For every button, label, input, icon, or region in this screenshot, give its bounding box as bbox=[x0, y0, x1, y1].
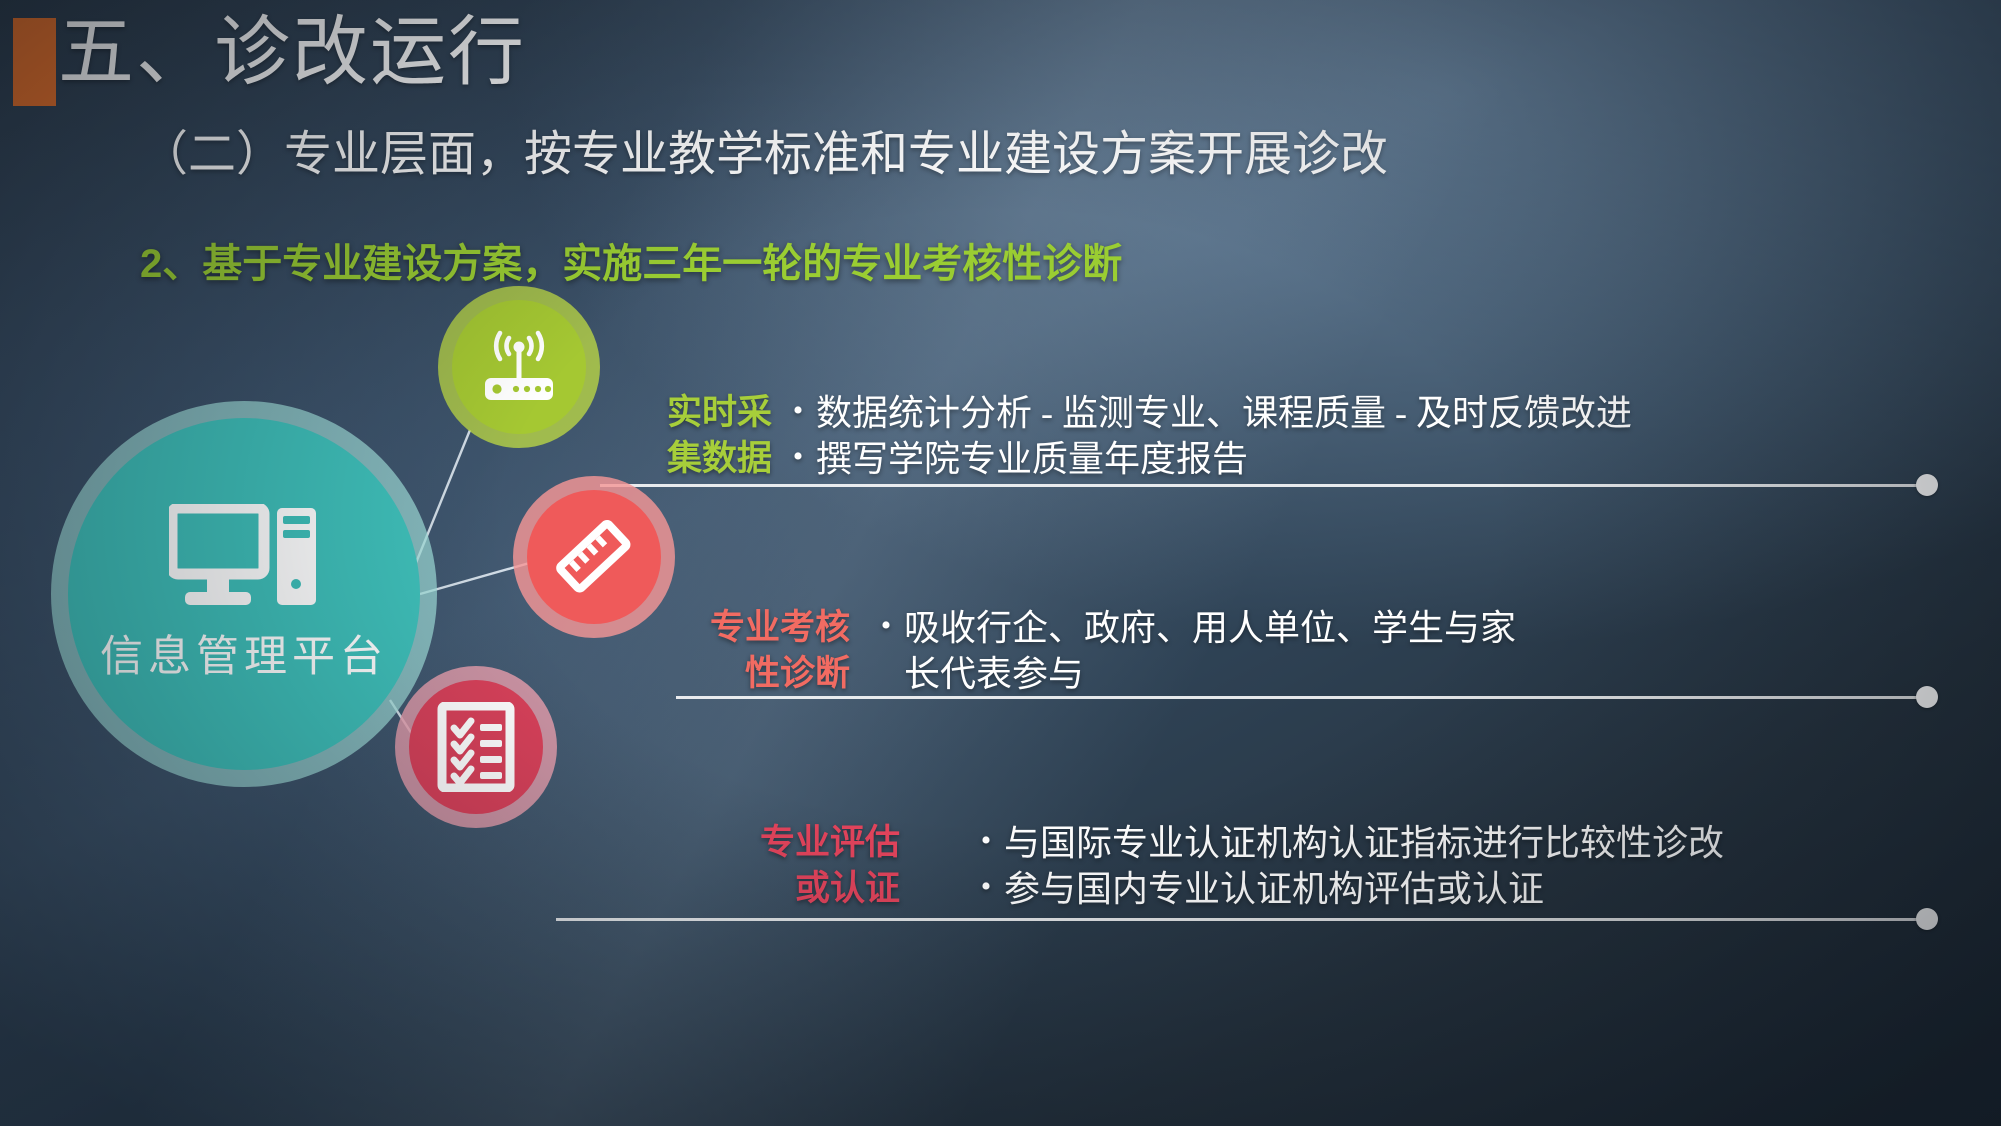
row-rule-3 bbox=[556, 918, 1920, 921]
bullet-list-evaluation-accreditation: • 与国际专业认证机构认证指标进行比较性诊改 • 参与国内专业认证机构评估或认证 bbox=[968, 820, 1724, 912]
list-item: • 吸收行企、政府、用人单位、学生与家 长代表参与 bbox=[868, 605, 1516, 697]
slide-canvas: 五、诊改运行 （二）专业层面，按专业教学标准和专业建设方案开展诊改 2、基于专业… bbox=[0, 0, 2001, 1126]
bullet-text: 数据统计分析 - 监测专业、课程质量 - 及时反馈改进 bbox=[816, 390, 1632, 436]
checklist-icon bbox=[437, 702, 515, 792]
hub-node-information-platform[interactable]: 信息管理平台 bbox=[68, 418, 420, 770]
bullet-marker: • bbox=[968, 820, 1004, 862]
hub-label: 信息管理平台 bbox=[100, 622, 388, 684]
wifi-router-icon bbox=[476, 326, 562, 408]
slide-subtitle: （二）专业层面，按专业教学标准和专业建设方案开展诊改 bbox=[140, 126, 1388, 184]
row-rule-1 bbox=[600, 484, 1920, 487]
bullet-text: 参与国内专业认证机构评估或认证 bbox=[1004, 866, 1544, 912]
bullet-marker: • bbox=[780, 436, 816, 478]
section-heading: 2、基于专业建设方案，实施三年一轮的专业考核性诊断 bbox=[140, 240, 1122, 288]
bullet-marker: • bbox=[968, 866, 1004, 908]
bullet-text: 撰写学院专业质量年度报告 bbox=[816, 436, 1248, 482]
list-item: • 与国际专业认证机构认证指标进行比较性诊改 bbox=[968, 820, 1724, 866]
ruler-icon bbox=[551, 514, 637, 600]
row-rule-2 bbox=[676, 696, 1920, 699]
list-item: • 数据统计分析 - 监测专业、课程质量 - 及时反馈改进 bbox=[780, 390, 1632, 436]
row-rule-dot-1 bbox=[1916, 474, 1938, 496]
node-realtime-data-collection[interactable] bbox=[452, 300, 586, 434]
row-heading-evaluation-accreditation: 专业评估 或认证 bbox=[750, 820, 900, 911]
node-major-assessment-diagnosis[interactable] bbox=[527, 490, 661, 624]
title-accent-bar bbox=[13, 18, 56, 106]
row-rule-dot-3 bbox=[1916, 908, 1938, 930]
row-rule-dot-2 bbox=[1916, 686, 1938, 708]
list-item: • 参与国内专业认证机构评估或认证 bbox=[968, 866, 1724, 912]
bullet-list-realtime-data: • 数据统计分析 - 监测专业、课程质量 - 及时反馈改进 • 撰写学院专业质量… bbox=[780, 390, 1632, 482]
list-item: • 撰写学院专业质量年度报告 bbox=[780, 436, 1632, 482]
node-major-evaluation-accreditation[interactable] bbox=[409, 680, 543, 814]
bullet-marker: • bbox=[780, 390, 816, 432]
bullet-list-assessment-diagnosis: • 吸收行企、政府、用人单位、学生与家 长代表参与 bbox=[868, 605, 1516, 697]
row-heading-realtime-data: 实时采 集数据 bbox=[632, 390, 772, 481]
bullet-text: 与国际专业认证机构认证指标进行比较性诊改 bbox=[1004, 820, 1724, 866]
desktop-computer-icon bbox=[169, 504, 319, 612]
row-heading-assessment-diagnosis: 专业考核 性诊断 bbox=[700, 605, 850, 696]
page-title: 五、诊改运行 bbox=[58, 12, 526, 94]
bullet-marker: • bbox=[868, 605, 904, 647]
bullet-text: 吸收行企、政府、用人单位、学生与家 长代表参与 bbox=[904, 605, 1516, 697]
